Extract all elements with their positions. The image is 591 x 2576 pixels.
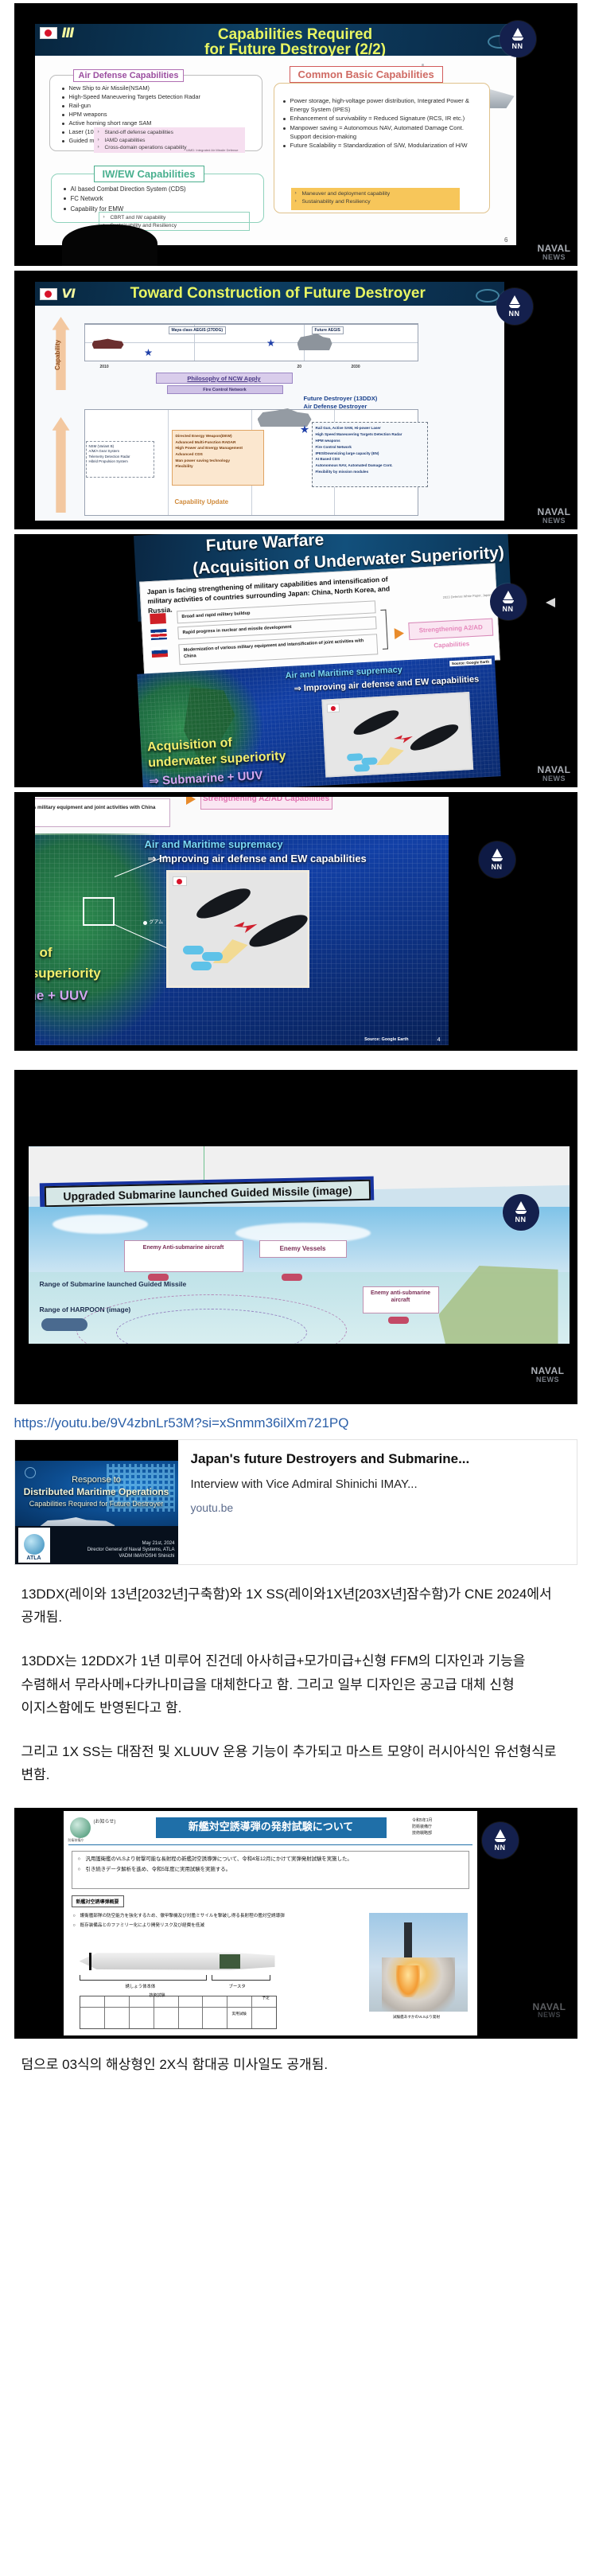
bug-label: NN bbox=[512, 42, 523, 50]
enemy-vessel-icon bbox=[282, 1274, 302, 1281]
watermark-line2: NEWS bbox=[542, 253, 566, 261]
list-item: IAMD capabilities bbox=[98, 138, 241, 145]
section-spacer bbox=[0, 1056, 591, 1070]
list-item: Advanced CDS bbox=[176, 452, 260, 459]
list-item: Rail Gun, Active SAM, Hi-power Laser bbox=[316, 425, 424, 431]
naval-news-bug: NN bbox=[496, 288, 533, 325]
projected-slide: various military equipment and joint act… bbox=[35, 797, 449, 1045]
partial-top-callout: Strengthening A2/AD Capabilities bbox=[200, 797, 332, 810]
watermark-line2: NEWS bbox=[542, 775, 566, 783]
row-text: Modernization of various military equipm… bbox=[178, 634, 378, 665]
ship-icon bbox=[513, 28, 523, 37]
list-item: IPES/Downsizing large capacity (EN) bbox=[316, 451, 424, 457]
card-title: Japan's future Destroyers and Submarine.… bbox=[191, 1451, 564, 1467]
list-item: HPM weapons bbox=[62, 111, 256, 119]
projected-slide: Ⅲ Capabilities Required for Future Destr… bbox=[35, 24, 516, 245]
bullet-text: 引き続きデータ解析を進め、令和5年度に実用試験を実施する。 bbox=[86, 1867, 231, 1872]
air-defense-subpanel: Stand-off defense capabilities IAMD capa… bbox=[94, 127, 245, 153]
list-item: Fire Control Network bbox=[316, 444, 424, 451]
north-korea-flag-icon bbox=[150, 629, 167, 640]
bug-label: NN bbox=[503, 605, 514, 613]
common-basic-subpanel: Maneuver and deployment capability Susta… bbox=[291, 188, 460, 210]
node-label: Maya class AEGIS (27DDG) bbox=[169, 326, 227, 334]
post-page: Ⅲ Capabilities Required for Future Destr… bbox=[0, 0, 591, 2076]
list-item: AI Based CDS bbox=[316, 456, 424, 463]
body-paragraph-1: 13DDX(레이와 13년[2032년]구축함)와 1X SS(레이와1X년[2… bbox=[21, 1583, 570, 1629]
submarine-inset bbox=[166, 870, 309, 988]
bullet: ○ 護衛艦部隊の防空能力を強化するため、徹甲撃機及び対艦ミサイルを撃破し得る長射… bbox=[73, 1913, 312, 1921]
naval-news-watermark: NAVAL NEWS bbox=[537, 244, 570, 261]
naval-news-watermark: NAVAL NEWS bbox=[537, 507, 570, 525]
slide-title: Toward Construction of Future Destroyer bbox=[80, 285, 499, 302]
list-item: Future Scalability = Standardization of … bbox=[283, 142, 484, 150]
notice-tag: (お知らせ) bbox=[94, 1817, 116, 1825]
slide-photo-sam-test: (お知らせ) 防衛装備庁 新艦対空誘導弾の発射試験について 令和5年1月 防衛装… bbox=[14, 1808, 577, 2039]
list-item: Man power saving technology bbox=[176, 459, 260, 465]
list-item: Power storage, high-voltage power distri… bbox=[283, 97, 484, 114]
hull-icon bbox=[512, 37, 523, 41]
list-item: Sustainability and Resiliency bbox=[295, 198, 456, 205]
enemy-aircraft-label: Enemy Anti-submarine aircraft bbox=[124, 1240, 243, 1272]
cursor-arrow-icon bbox=[546, 598, 555, 607]
thumb-line2: Distributed Maritime Operations bbox=[15, 1486, 178, 1498]
list-item: High-Speed Maneuvering Targets Detection… bbox=[62, 93, 256, 101]
common-basic-items: Power storage, high-voltage power distri… bbox=[283, 97, 484, 151]
small-feature-list: NSM (Variant B) A/M/A Gear System Teleme… bbox=[86, 441, 154, 478]
slide-photo-submarine-missile: Upgraded Submarine launched Guided Missi… bbox=[14, 1070, 577, 1404]
submarine-icon bbox=[192, 883, 253, 923]
list-item: High Power and Energy Management bbox=[176, 446, 260, 452]
slide-title-line1: Capabilities Required bbox=[80, 27, 511, 42]
schedule-label-2: 実用試験 bbox=[232, 2012, 247, 2016]
thumb-line1: Response to bbox=[15, 1475, 178, 1486]
subpanel-note: IAMD: Integrated Air Missile Defense bbox=[186, 148, 238, 152]
slide-section-numeral: Ⅲ bbox=[62, 26, 75, 40]
bug-label: NN bbox=[515, 1216, 527, 1224]
naval-news-watermark: NAVAL NEWS bbox=[537, 765, 570, 783]
diagram-label: ブースタ bbox=[229, 1983, 246, 1989]
hull-icon bbox=[515, 1211, 527, 1214]
list-item: Maneuver and deployment capability bbox=[295, 190, 456, 197]
body-paragraph-3: 그리고 1X SS는 대잠전 및 XLUUV 운용 기능이 추가되고 마스트 모… bbox=[21, 1740, 570, 1786]
slide-section-numeral: Ⅵ bbox=[62, 286, 76, 302]
atla-logo: ATLA bbox=[18, 1528, 50, 1563]
list-item: Manpower saving = Autonomous NAV, Automa… bbox=[283, 124, 484, 141]
big-line2: r superiority bbox=[35, 966, 101, 982]
list-item: FC Network bbox=[64, 194, 255, 203]
ship-icon bbox=[504, 591, 513, 599]
uuv-fan-icon bbox=[375, 746, 404, 765]
slide-page-number: 4 bbox=[437, 1037, 441, 1043]
brace bbox=[380, 610, 388, 650]
launch-photo bbox=[369, 1913, 468, 2012]
list-item: Active homing short range SAM bbox=[62, 119, 256, 127]
list-item: Advanced Multi-Function RADAR bbox=[176, 440, 260, 447]
watermark-line2: NEWS bbox=[538, 2011, 561, 2019]
timeline-grid-top bbox=[84, 323, 418, 361]
naval-news-watermark: NAVAL NEWS bbox=[532, 2002, 566, 2020]
atla-globe-icon bbox=[70, 1817, 91, 1838]
watermark-line2: NEWS bbox=[536, 1376, 559, 1384]
projected-slide: Ⅵ Toward Construction of Future Destroye… bbox=[35, 282, 504, 521]
youtube-link[interactable]: https://youtu.be/9V4zbnLr53M?si=xSnmm36i… bbox=[14, 1415, 577, 1431]
list-item: CBRT and IW capability bbox=[103, 215, 245, 222]
ncw-philosophy-label: Philosophy of NCW Apply bbox=[156, 373, 293, 384]
bug-label: NN bbox=[495, 1844, 506, 1852]
arrow-icon bbox=[186, 797, 196, 805]
japan-flag-icon bbox=[40, 27, 57, 39]
naval-news-bug: NN bbox=[479, 841, 515, 878]
map-source: Source: Google Earth bbox=[364, 1037, 408, 1042]
notice-bullets: ○ 汎用護衛艦のVLSより射撃可能な長射程の新艦対空誘導弾について、令和4年12… bbox=[72, 1851, 469, 1889]
meta-line: 技術戦略部 bbox=[412, 1830, 433, 1836]
big-line1: of bbox=[40, 945, 52, 961]
air-defense-title: Air Defense Capabilities bbox=[73, 69, 185, 82]
bullet: ○ 引き続きデータ解析を進め、令和5年度に実用試験を実施する。 bbox=[78, 1866, 463, 1875]
iw-ew-title: IW/EW Capabilities bbox=[94, 166, 204, 182]
range-guided-missile-label: Range of Submarine launched Guided Missi… bbox=[40, 1280, 187, 1288]
card-host: youtu.be bbox=[191, 1501, 564, 1514]
node-label: Future AEGIS bbox=[312, 326, 344, 334]
iw-ew-items: AI based Combat Direction System (CDS) F… bbox=[64, 185, 255, 214]
future-destroyer-label: Future Destroyer (13DDX) Air Defense Des… bbox=[304, 395, 378, 412]
ship-icon bbox=[516, 1201, 526, 1210]
common-basic-title: Common Basic Capabilities bbox=[290, 66, 443, 83]
slide-photo-air-maritime-zoom: various military equipment and joint act… bbox=[14, 792, 577, 1051]
list-item: High Speed Maneuvering Targets Detection… bbox=[316, 431, 424, 438]
slide-title: 新艦対空誘導弾の発射試験について bbox=[156, 1817, 387, 1838]
submarine-icon bbox=[351, 706, 401, 740]
china-flag-icon bbox=[150, 613, 166, 624]
submarine-icon bbox=[41, 1318, 87, 1331]
enemy-vessels-label: Enemy Vessels bbox=[259, 1240, 347, 1258]
naval-news-bug: NN bbox=[503, 1194, 539, 1231]
year-label: 2010 bbox=[100, 365, 109, 369]
list-item: Flexibility bbox=[176, 464, 260, 470]
enemy-asw-icon bbox=[388, 1317, 409, 1324]
card-meta: Japan's future Destroyers and Submarine.… bbox=[178, 1440, 577, 1564]
list-item: Directed Energy Weapon(DEW) bbox=[176, 434, 260, 440]
arrow-icon bbox=[394, 627, 404, 639]
slide-header: Ⅲ Capabilities Required for Future Destr… bbox=[35, 24, 516, 56]
meta-line: 令和5年1月 bbox=[412, 1817, 433, 1824]
projected-slide: Upgraded Submarine launched Guided Missi… bbox=[29, 1146, 570, 1344]
diagram-label: 誘しょう体本体 bbox=[126, 1983, 156, 1989]
missile-diagram bbox=[80, 1951, 275, 1972]
list-item: Stand-off defense capabilities bbox=[98, 130, 241, 137]
slide-photo-future-warfare: Future Warfare (Acquisition of Underwate… bbox=[14, 534, 577, 787]
thumbnail-topbar bbox=[15, 1440, 178, 1461]
watermark-line2: NEWS bbox=[542, 517, 566, 525]
credit-role: Director General of Naval Systems, ATLA bbox=[87, 1547, 175, 1553]
japan-flag-icon bbox=[40, 288, 57, 300]
year-label: 2030 bbox=[352, 365, 360, 369]
slide-top-strip: various military equipment and joint act… bbox=[35, 797, 449, 835]
slide-title-line1: Future Warfare bbox=[205, 534, 325, 556]
audience-silhouette bbox=[62, 224, 157, 266]
section-title: 新艦対空誘導弾概要 bbox=[72, 1895, 124, 1907]
naval-news-bug: NN bbox=[482, 1822, 519, 1859]
ship-icon bbox=[492, 849, 502, 857]
partial-left-text: various military equipment and joint act… bbox=[35, 798, 170, 827]
bullet-text: 護衛艦部隊の防空能力を強化するため、徹甲撃機及び対艦ミサイルを撃破し得る長射程の… bbox=[80, 1914, 285, 1918]
list-item: Flexibility by mission modules bbox=[316, 469, 424, 475]
schedule-table bbox=[80, 1996, 277, 2029]
source-note: 2023 Defense White Paper, Japan bbox=[442, 593, 491, 599]
slide-photo-capabilities: Ⅲ Capabilities Required for Future Destr… bbox=[14, 3, 577, 266]
thumbnail-title: Response to Distributed Maritime Operati… bbox=[15, 1475, 178, 1509]
bullet-text: 既存装備品とのファミリー化により開発リスク及び経費を低減 bbox=[80, 1923, 204, 1928]
marker-label: グアム bbox=[150, 918, 164, 925]
schedule-label-3: 予定 bbox=[262, 1996, 270, 2000]
bullet: ○ 汎用護衛艦のVLSより射撃可能な長射程の新艦対空誘導弾について、令和4年12… bbox=[78, 1856, 463, 1864]
naval-news-bug: NN bbox=[500, 21, 536, 57]
projected-slide: (お知らせ) 防衛装備庁 新艦対空誘導弾の発射試験について 令和5年1月 防衛装… bbox=[64, 1811, 477, 2035]
slide-page-number: 6 bbox=[504, 236, 507, 244]
credit-date: May 21st, 2024 bbox=[87, 1540, 175, 1547]
closing-paragraph: 덤으로 03식의 해상형인 2X식 함대공 미사일도 공개됨. bbox=[21, 2053, 570, 2076]
atla-label: ATLA bbox=[26, 1555, 41, 1561]
list-item: Rail-gun bbox=[62, 102, 256, 110]
supremacy-line1: Air and Maritime supremacy bbox=[145, 838, 283, 850]
card-description: Interview with Vice Admiral Shinichi IMA… bbox=[191, 1477, 564, 1491]
a2ad-callout: Strengthening A2/AD Capabilities bbox=[408, 619, 493, 641]
fire-control-network-label: Fire Control Network bbox=[167, 385, 283, 394]
list-item: New Ship to Air Missile(NSAM) bbox=[62, 84, 256, 92]
bullet-text: 汎用護衛艦のVLSより射撃可能な長射程の新艦対空誘導弾について、令和4年12月に… bbox=[86, 1856, 352, 1862]
photo-caption: 試験艦あすかのVLSより発射 bbox=[369, 2015, 465, 2020]
supremacy-line2: ⇒ Improving air defense and EW capabilit… bbox=[148, 853, 367, 865]
hull-icon bbox=[492, 858, 503, 861]
list-item: Hibrid Propulsion System bbox=[89, 459, 151, 464]
bullet: ○ 既存装備品とのファミリー化により開発リスク及び経費を低減 bbox=[73, 1922, 312, 1930]
meta-line: 防衛装備庁 bbox=[412, 1824, 433, 1830]
big-line3: ne + UUV bbox=[35, 988, 88, 1004]
list-item: Autonomous NAV, Automated Damage Cont. bbox=[316, 463, 424, 469]
map-area: Air and Maritime supremacy ⇒ Improving a… bbox=[137, 655, 500, 787]
section-bullets: ○ 護衛艦部隊の防空能力を強化するため、徹甲撃機及び対艦ミサイルを撃破し得る長射… bbox=[73, 1913, 312, 1931]
list-item: Enhancement of survivability = Reduced S… bbox=[283, 115, 484, 123]
hull-icon bbox=[509, 305, 520, 308]
left-feature-list: Directed Energy Weapon(DEW) Advanced Mul… bbox=[172, 430, 264, 486]
node-sublabel: Air Defense Destroyer bbox=[304, 403, 378, 411]
video-thumbnail[interactable]: Response to Distributed Maritime Operati… bbox=[15, 1440, 178, 1564]
capability-axis-label: Capability bbox=[54, 323, 68, 387]
youtube-embed-card[interactable]: Response to Distributed Maritime Operati… bbox=[14, 1439, 577, 1565]
bug-label: NN bbox=[492, 863, 503, 871]
bug-label: NN bbox=[509, 310, 520, 318]
naval-news-watermark: NAVAL NEWS bbox=[531, 1366, 564, 1384]
slide-photo-toward-construction: Ⅵ Toward Construction of Future Destroye… bbox=[14, 271, 577, 529]
year-label: 20 bbox=[297, 365, 302, 369]
slide-header: Ⅵ Toward Construction of Future Destroye… bbox=[35, 282, 504, 306]
capability-arrow-2 bbox=[52, 417, 70, 513]
thumb-line3: Capabilities Required for Future Destroy… bbox=[15, 1500, 178, 1509]
body-paragraph-2: 13DDX는 12DDX가 1년 미루어 진건데 아사히급+모가미급+신형 FF… bbox=[21, 1649, 570, 1719]
enemy-aircraft-icon bbox=[148, 1274, 169, 1281]
enemy-asw-aircraft-label: Enemy anti-submarine aircraft bbox=[363, 1286, 439, 1313]
submarine-icon bbox=[407, 720, 461, 755]
slide-title-line2: for Future Destroyer (2/2) bbox=[80, 42, 511, 56]
russia-flag-icon bbox=[151, 646, 168, 658]
node-label: Future Destroyer (13DDX) bbox=[304, 395, 378, 403]
thumbnail-credit: May 21st, 2024 Director General of Naval… bbox=[87, 1540, 175, 1559]
hull-icon bbox=[495, 1839, 506, 1842]
list-item: HPM weapons bbox=[316, 438, 424, 444]
ship-icon bbox=[496, 1829, 505, 1838]
future-feature-list: Rail Gun, Active SAM, Hi-power Laser Hig… bbox=[312, 422, 428, 487]
list-item: AI based Combat Direction System (CDS) bbox=[64, 185, 255, 193]
attack-bolt-icon bbox=[393, 735, 412, 744]
slide-meta: 令和5年1月 防衛装備庁 技術戦略部 bbox=[412, 1817, 433, 1836]
schedule-label: 技術試験 bbox=[150, 1992, 165, 1998]
attack-bolt-icon bbox=[234, 922, 258, 933]
submarine-inset bbox=[321, 692, 473, 778]
naval-news-bug: NN bbox=[490, 584, 527, 620]
credit-name: VADM IMAYOSHI Shinichi bbox=[87, 1553, 175, 1559]
capability-update-label: Capability Update bbox=[175, 498, 229, 505]
ship-icon bbox=[510, 295, 519, 304]
submarine-icon bbox=[245, 909, 310, 953]
hull-icon bbox=[503, 600, 514, 603]
globe-icon bbox=[24, 1534, 45, 1555]
